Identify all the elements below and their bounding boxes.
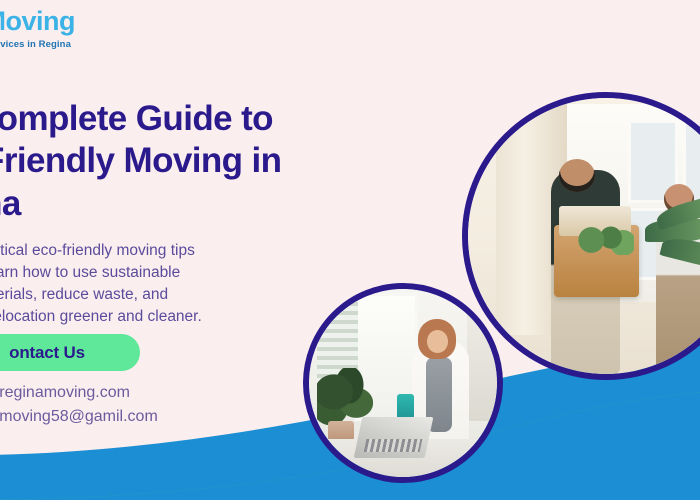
person-head [559, 159, 595, 192]
email-link[interactable]: ginamoving58@gamil.com [0, 405, 299, 429]
contact-details: ps://reginamoving.com ginamoving58@gamil… [0, 381, 299, 430]
page-title: Complete Guide to -Friendly Moving in in… [0, 98, 402, 225]
laptop-keyboard [364, 439, 423, 452]
website-link[interactable]: ps://reginamoving.com [0, 381, 299, 405]
photo-inner-small [309, 289, 497, 477]
logo-wordmark-main: Moving [0, 6, 75, 36]
logo-wordmark: a Moving [0, 8, 162, 35]
brand-logo[interactable]: a Moving ving Services in Regina [0, 8, 162, 50]
illustration-woman-packing [309, 289, 497, 477]
logo-tagline: ving Services in Regina [0, 39, 162, 50]
cabinet [467, 289, 497, 421]
contact-us-button[interactable]: ontact Us [0, 334, 140, 371]
box-plants [573, 225, 634, 255]
photo-inner-large [468, 98, 700, 374]
photo-circle-woman-packing-desk [303, 283, 503, 483]
photo-circle-couple-carrying-boxes [462, 92, 700, 380]
woman-face [427, 330, 448, 353]
description-text: practical eco-friendly moving tips ! Lea… [0, 240, 320, 328]
eco-friendly-moving-banner: a Moving ving Services in Regina Complet… [0, 0, 700, 500]
illustration-couple-moving [468, 98, 700, 374]
